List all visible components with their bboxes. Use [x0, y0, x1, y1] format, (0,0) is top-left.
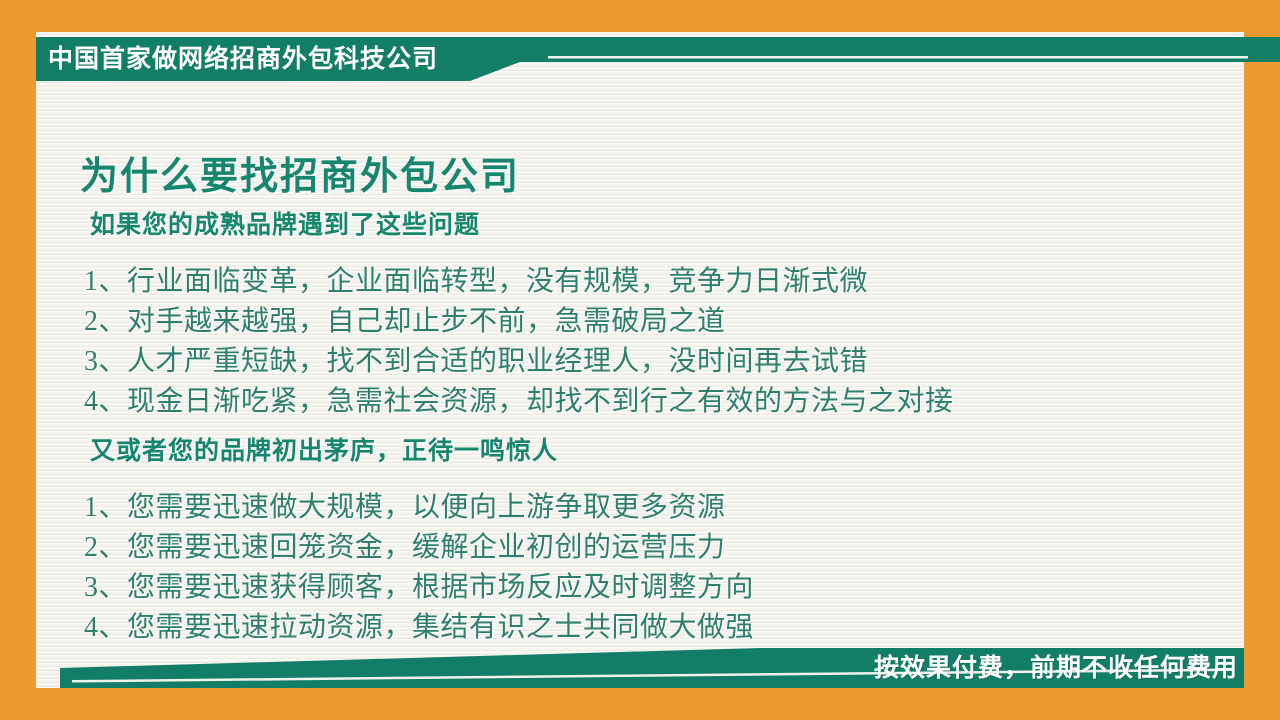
section-mature-brand: 如果您的成熟品牌遇到了这些问题 1、行业面临变革，企业面临转型，没有规模，竞争力… [36, 184, 1244, 422]
section-new-brand: 又或者您的品牌初出茅庐，正待一鸣惊人 1、您需要迅速做大规模，以便向上游争取更多… [36, 410, 1244, 648]
list-item: 4、您需要迅速拉动资源，集结有识之士共同做大做强 [84, 608, 1244, 648]
problem-list-mature-brand: 1、行业面临变革，企业面临转型，没有规模，竞争力日渐式微 2、对手越来越强，自己… [36, 262, 1244, 422]
section-heading-mature-brand: 如果您的成熟品牌遇到了这些问题 [90, 205, 1244, 241]
paper-sheet: 为什么要找招商外包公司 如果您的成熟品牌遇到了这些问题 1、行业面临变革，企业面… [36, 32, 1244, 688]
section-heading-new-brand: 又或者您的品牌初出茅庐，正待一鸣惊人 [90, 431, 1244, 467]
footer-tagline: 按效果付费，前期不收任何费用 [874, 648, 1238, 684]
need-list-new-brand: 1、您需要迅速做大规模，以便向上游争取更多资源 2、您需要迅速回笼资金，缓解企业… [36, 488, 1244, 648]
list-item: 3、人才严重短缺，找不到合适的职业经理人，没时间再去试错 [84, 342, 1244, 382]
list-item: 2、对手越来越强，自己却止步不前，急需破局之道 [84, 302, 1244, 342]
list-item: 2、您需要迅速回笼资金，缓解企业初创的运营压力 [84, 528, 1244, 568]
list-item: 1、您需要迅速做大规模，以便向上游争取更多资源 [84, 488, 1244, 528]
slide-root: 为什么要找招商外包公司 如果您的成熟品牌遇到了这些问题 1、行业面临变革，企业面… [0, 0, 1280, 720]
header-banner-text: 中国首家做网络招商外包科技公司 [48, 41, 438, 77]
list-item: 1、行业面临变革，企业面临转型，没有规模，竞争力日渐式微 [84, 262, 1244, 302]
slide-content: 为什么要找招商外包公司 如果您的成熟品牌遇到了这些问题 1、行业面临变革，企业面… [36, 32, 1244, 688]
list-item: 3、您需要迅速获得顾客，根据市场反应及时调整方向 [84, 568, 1244, 608]
